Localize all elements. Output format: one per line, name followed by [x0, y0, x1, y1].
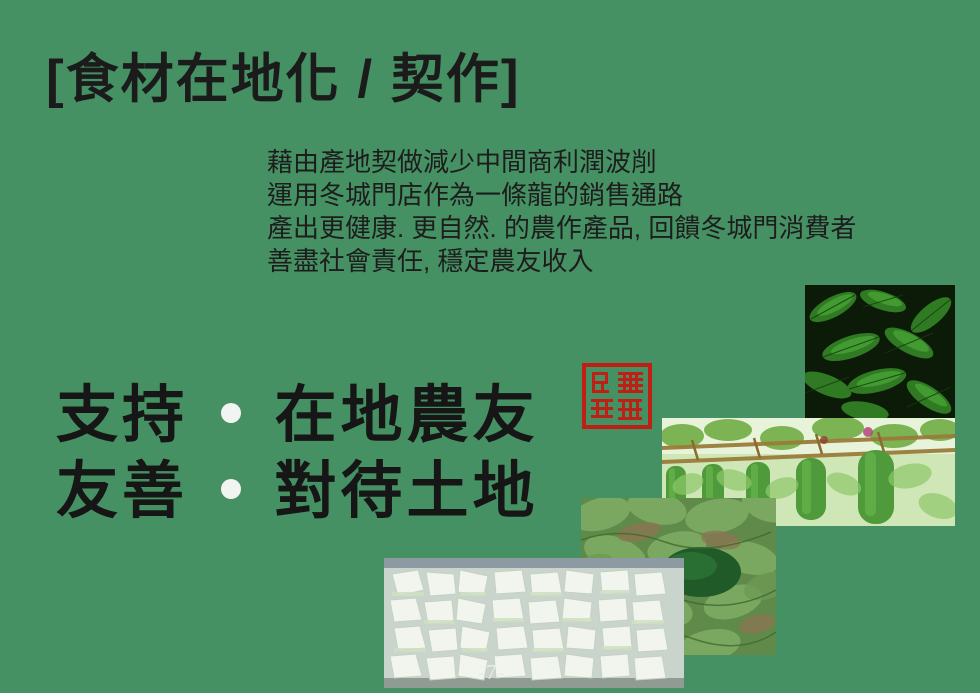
body-line-2: 運用冬城門店作為一條龍的銷售通路: [267, 179, 856, 212]
body-line-4: 善盡社會責任, 穩定農友收入: [267, 245, 856, 278]
chopped-melon-photo: [384, 558, 684, 688]
slogan-line-2-left: 友善: [56, 457, 188, 526]
slogan-separator-dot-1: [221, 403, 241, 423]
slide-canvas: [食材在地化 / 契作] 藉由產地契做減少中間商利潤波削 運用冬城門店作為一條龍…: [0, 0, 980, 693]
page-number: -7-: [478, 660, 506, 685]
red-seal-icon: [582, 363, 652, 429]
slogan-line-1: 支持 在地農友: [56, 378, 539, 454]
slogan-line-1-left: 支持: [56, 381, 188, 450]
body-line-1: 藉由產地契做減少中間商利潤波削: [267, 146, 856, 179]
slogan-block: 支持 在地農友 友善 對待土地: [56, 378, 539, 530]
green-leaves-photo: [805, 285, 955, 418]
slogan-line-1-right: 在地農友: [274, 381, 538, 450]
slogan-separator-dot-2: [221, 479, 241, 499]
body-line-3: 產出更健康. 更自然. 的農作產品, 回饋冬城門消費者: [267, 212, 856, 245]
slogan-line-2: 友善 對待土地: [56, 454, 539, 530]
body-paragraph: 藉由產地契做減少中間商利潤波削 運用冬城門店作為一條龍的銷售通路 產出更健康. …: [267, 146, 856, 278]
page-title: [食材在地化 / 契作]: [46, 50, 520, 111]
slogan-line-2-right: 對待土地: [274, 457, 538, 526]
